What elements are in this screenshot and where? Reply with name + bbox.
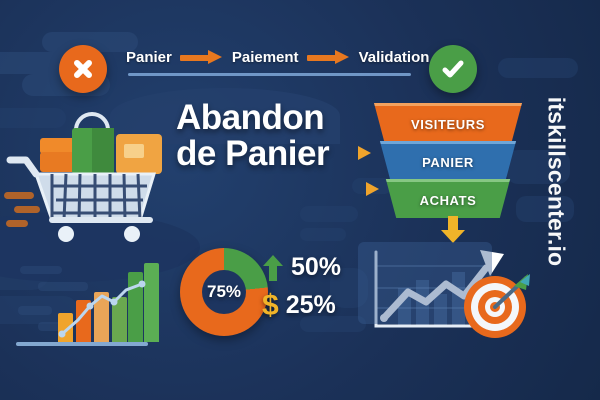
- triangle-right-icon: [358, 146, 371, 160]
- conversion-funnel: VISITEURS PANIER ACHATS: [374, 103, 522, 218]
- breadcrumb-step-paiement[interactable]: Paiement: [232, 49, 299, 66]
- shopping-cart-icon: [4, 108, 194, 243]
- breadcrumb: Panier Paiement Validation: [126, 40, 416, 74]
- funnel-band-label: PANIER: [422, 155, 474, 170]
- success-badge: [429, 45, 477, 93]
- funnel-band-label: VISITEURS: [411, 117, 485, 132]
- stat-growth: 50%: [262, 253, 341, 282]
- page-title-line1: Abandon: [176, 100, 391, 136]
- close-x-icon: [70, 56, 96, 82]
- breadcrumb-underline: [128, 73, 411, 76]
- background-bar: [300, 228, 346, 241]
- infographic-canvas: Panier Paiement Validation Abandon de Pa…: [0, 0, 600, 400]
- chart-baseline: [16, 342, 148, 346]
- breadcrumb-step-panier[interactable]: Panier: [126, 49, 172, 66]
- breadcrumb-step-validation[interactable]: Validation: [359, 49, 430, 66]
- arrow-right-icon: [307, 52, 351, 63]
- bar-chart-icon: [14, 262, 150, 352]
- check-icon: [439, 55, 467, 83]
- donut-chart: 75%: [180, 248, 268, 336]
- funnel-band-label: ACHATS: [420, 193, 477, 208]
- page-title: Abandon de Panier: [176, 100, 391, 171]
- dollar-icon: $: [262, 293, 279, 319]
- stat-revenue-value: 25%: [286, 291, 336, 320]
- arrow-up-icon: [262, 254, 284, 282]
- funnel-band-panier: PANIER: [374, 141, 522, 180]
- arrow-right-icon: [180, 52, 224, 63]
- triangle-right-icon: [366, 182, 379, 196]
- target-bullseye-icon: [460, 272, 530, 342]
- watermark: itskillscenter.io: [543, 52, 570, 312]
- funnel-band-achats: ACHATS: [374, 179, 522, 218]
- donut-value-label: 75%: [207, 282, 241, 302]
- trend-overlay-line: [14, 262, 150, 352]
- stat-growth-value: 50%: [291, 253, 341, 282]
- funnel-band-visiteurs: VISITEURS: [374, 103, 522, 142]
- donut-center: 75%: [202, 270, 246, 314]
- growth-line-chart-icon: [352, 240, 528, 350]
- error-badge: [59, 45, 107, 93]
- stat-revenue: $ 25%: [262, 291, 336, 320]
- background-bar: [300, 206, 358, 222]
